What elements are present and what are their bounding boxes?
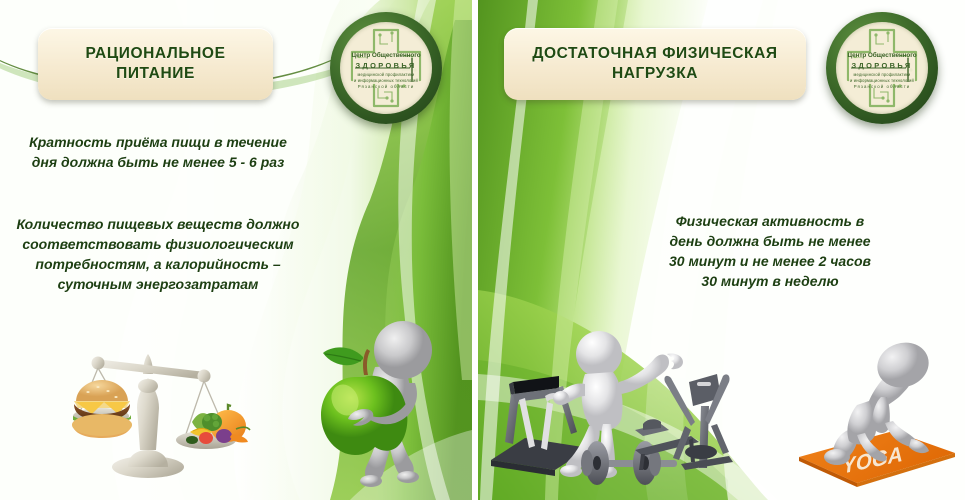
panel-physical-activity: ДОСТАТОЧНАЯ ФИЗИЧЕСКАЯ НАГРУЗКА [478,0,965,500]
title-line-2: ПИТАНИЕ [116,65,195,82]
logo-line-1: Центр Общественного [340,52,432,59]
paragraph-line: Количество пищевых веществ должно [2,215,314,235]
title-line-1: ДОСТАТОЧНАЯ ФИЗИЧЕСКАЯ [532,45,777,62]
logo-face: Центр Общественного ЗДОРОВЬЯ медицинской… [340,22,432,114]
logo-line-4: и информационных технологий [340,78,432,83]
title-text-nutrition: РАЦИОНАЛЬНОЕ ПИТАНИЕ [50,44,261,85]
paragraph-line: Кратность приёма пищи в течение [8,133,308,153]
logo-line-5: Рязанской области [340,84,432,89]
logo-line-2: ЗДОРОВЬЯ [340,61,432,70]
title-box-nutrition: РАЦИОНАЛЬНОЕ ПИТАНИЕ [38,28,273,100]
title-text-physical-activity: ДОСТАТОЧНАЯ ФИЗИЧЕСКАЯ НАГРУЗКА [516,44,794,85]
nutrition-paragraph-1: Кратность приёма пищи в течение дня долж… [8,133,308,173]
paragraph-line: потребностям, а калорийность – [2,255,314,275]
organization-logo-left: Центр Общественного ЗДОРОВЬЯ медицинской… [330,12,442,124]
nutrition-paragraph-2: Количество пищевых веществ должно соотве… [2,215,314,295]
balance-scales-icon [40,330,265,495]
health-poster: РАЦИОНАЛЬНОЕ ПИТАНИЕ Кратность приёма пи… [0,0,965,500]
panel-rational-nutrition: РАЦИОНАЛЬНОЕ ПИТАНИЕ Кратность приёма пи… [0,0,472,500]
panel-divider [472,0,478,500]
figure-holding-apple-icon [295,305,455,500]
paragraph-line: соответствовать физиологическим [2,235,314,255]
title-line-2: НАГРУЗКА [612,65,698,82]
figure-with-apple-illustration [295,305,455,500]
title-line-1: РАЦИОНАЛЬНОЕ [85,45,225,62]
title-box-physical-activity: ДОСТАТОЧНАЯ ФИЗИЧЕСКАЯ НАГРУЗКА [504,28,806,100]
paragraph-line: дня должна быть не менее 5 - 6 раз [8,153,308,173]
logo-line-3: медицинской профилактики [340,72,432,77]
paragraph-line: суточным энергозатратам [2,275,314,295]
balance-scales-illustration [40,330,265,495]
